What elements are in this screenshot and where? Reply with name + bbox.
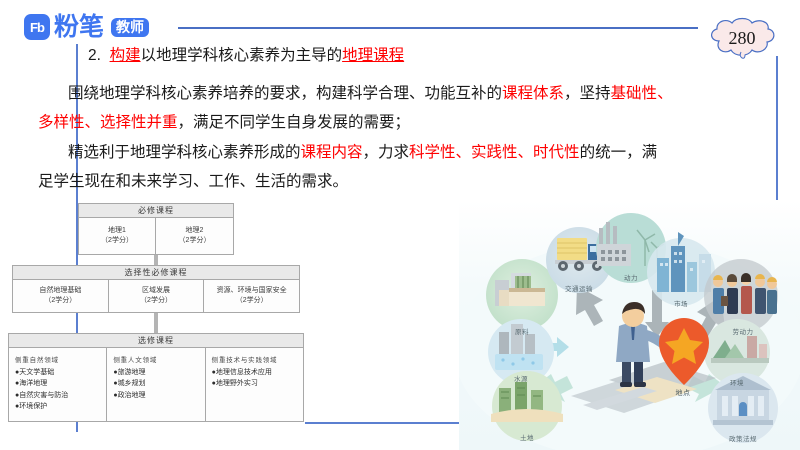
industrial-location-illustration: 原料 交通运输 动力 市场 劳动力 水源 土地 环境 政策法规 地点 [459,200,800,450]
list-item: ●城乡规划 [113,378,200,389]
course-credit: （2学分） [101,236,133,247]
p3-red-2: 科学性、实践性、时代性 [409,144,580,161]
list-item: ●环境保护 [15,401,102,412]
tier-elective: 选修课程 侧重自然领域 ●天文学基础 ●海洋地理 ●自然灾害与防治 ●环境保护 … [8,333,304,422]
label-power: 动力 [624,272,638,282]
item-label: 天文学基础 [19,369,54,376]
p2-seg2: ，满足不同学生自身发展的需要； [178,114,411,131]
course-credit: （2学分） [44,296,76,307]
p1-red-1: 课程体系 [502,85,564,102]
course-name: 自然地理基础 [39,286,81,297]
fenbi-logo-icon: Fb [24,14,50,40]
column-title: 侧重自然领域 [15,354,102,364]
label-water: 水源 [514,373,528,383]
tier1-title: 必修课程 [78,203,234,218]
tier-required: 必修课程 地理1 （2学分） 地理2 （2学分） [78,203,234,255]
tier3-column-1: 侧重人文领域 ●旅游地理 ●城乡规划 ●政治地理 [107,348,205,422]
section-heading: 2. 构建以地理学科核心素养为主导的地理课程 [88,48,404,64]
item-label: 环境保护 [19,403,47,410]
brand-logo: Fb 粉笔 教师 [24,14,149,40]
label-environment: 环境 [730,377,744,387]
item-label: 自然灾害与防治 [19,392,68,399]
p3-seg1: 精选利于地理学科核心素养形成的 [68,144,301,161]
course-name: 地理1 [108,226,126,237]
course-name: 地理2 [186,226,204,237]
tier1-cell-0: 地理1 （2学分） [78,218,156,255]
label-policy: 政策法规 [729,433,757,443]
tier3-column-0: 侧重自然领域 ●天文学基础 ●海洋地理 ●自然灾害与防治 ●环境保护 [8,348,107,422]
p3-seg5: 的统一，满 [580,144,658,161]
frame-line-right [776,56,778,202]
p2-red-1: 多样性、选择性并重 [38,114,178,131]
list-item: ●地理野外实习 [212,378,299,389]
label-transport: 交通运输 [565,283,593,293]
tier3-column-2: 侧重技术与实践领域 ●地理信息技术应用 ●地理野外实习 [206,348,304,422]
curriculum-diagram: 必修课程 地理1 （2学分） 地理2 （2学分） 选择性必修课程 自然地理基础 … [4,203,312,443]
heading-red-1: 构建 [110,47,141,64]
brand-badge: 教师 [111,18,149,37]
column-title: 侧重人文领域 [113,354,200,364]
slide-canvas: Fb 粉笔 教师 280 2. 构建以地理学科核心素养为主导的地理课程 围绕地理… [0,0,800,450]
p3-red-1: 课程内容 [301,144,363,161]
list-item: ●地理信息技术应用 [212,367,299,378]
tier2-cell-0: 自然地理基础 （2学分） [12,280,109,313]
label-material: 原料 [515,326,529,336]
item-label: 旅游地理 [118,369,146,376]
course-credit: （2学分） [140,296,172,307]
p1-seg5: 、 [657,85,673,102]
course-credit: （2学分） [236,296,268,307]
course-name: 区域发展 [142,286,170,297]
list-item: ●旅游地理 [113,367,200,378]
label-labor: 劳动力 [733,326,754,336]
p1-seg3: ，坚持 [564,85,611,102]
tier1-cell-1: 地理2 （2学分） [156,218,234,255]
frame-line-bottom [305,422,463,424]
list-item: ●天文学基础 [15,367,102,378]
heading-plain: 以地理学科核心素养为主导的 [141,47,343,64]
heading-red-2: 地理课程 [342,47,404,64]
p1-red-2: 基础性 [611,85,658,102]
paragraph-1: 围绕地理学科核心素养培养的要求，构建科学合理、功能互补的课程体系，坚持基础性、 [68,86,673,102]
course-credit: （2学分） [179,236,211,247]
column-title: 侧重技术与实践领域 [212,354,299,364]
p4-seg1: 足学生现在和未来学习、工作、生活的需求。 [38,173,348,190]
label-land: 土地 [520,432,534,442]
page-number: 280 [705,17,779,61]
list-item: ●自然灾害与防治 [15,390,102,401]
item-label: 海洋地理 [19,380,47,387]
paragraph-3: 精选利于地理学科核心素养形成的课程内容，力求科学性、实践性、时代性的统一，满 [68,145,657,161]
label-center-location: 地点 [676,388,691,398]
paragraph-2: 多样性、选择性并重，满足不同学生自身发展的需要； [38,115,410,131]
p1-seg1: 围绕地理学科核心素养培养的要求，构建科学合理、功能互补的 [68,85,502,102]
tier2-title: 选择性必修课程 [12,265,300,280]
item-label: 城乡规划 [118,380,146,387]
page-number-cloud: 280 [705,17,779,61]
course-name: 资源、环境与国家安全 [217,286,287,297]
p3-seg3: ，力求 [363,144,410,161]
tier2-cell-1: 区域发展 （2学分） [109,280,205,313]
list-item: ●海洋地理 [15,378,102,389]
header-divider [178,27,698,29]
label-market: 市场 [674,298,688,308]
illustration-graphic [459,200,800,450]
item-label: 地理野外实习 [216,380,258,387]
item-label: 政治地理 [118,392,146,399]
brand-name: 粉笔 [54,15,104,40]
list-item: ●政治地理 [113,390,200,401]
item-label: 地理信息技术应用 [216,369,272,376]
paragraph-4: 足学生现在和未来学习、工作、生活的需求。 [38,174,348,190]
tier3-title: 选修课程 [8,333,304,348]
tier2-cell-2: 资源、环境与国家安全 （2学分） [204,280,300,313]
connector-tier2-tier3 [154,313,158,333]
heading-number: 2. [88,47,101,64]
tier-selective-required: 选择性必修课程 自然地理基础 （2学分） 区域发展 （2学分） 资源、环境与国家… [12,265,300,313]
